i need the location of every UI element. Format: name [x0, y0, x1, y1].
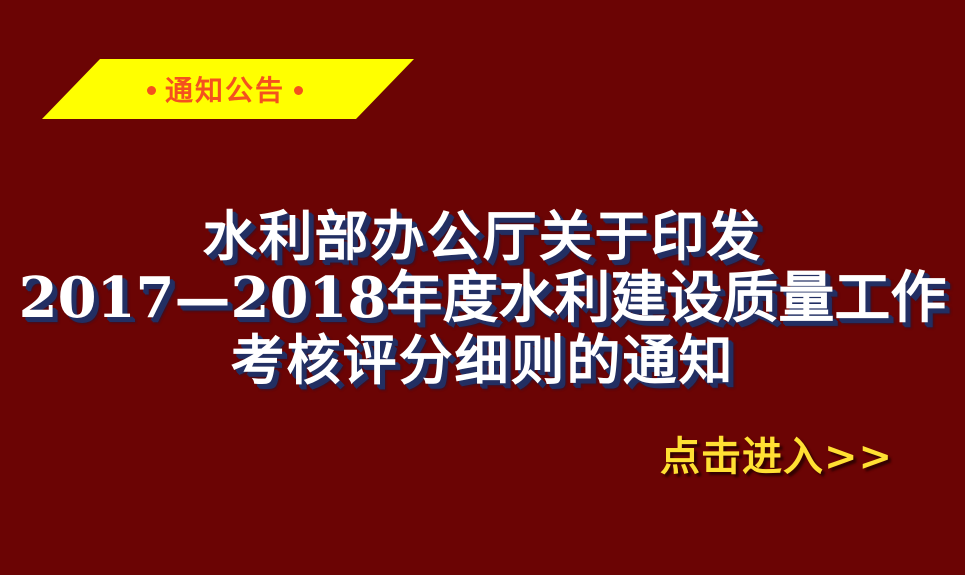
ribbon-label-group: 通知公告 — [42, 59, 414, 119]
notice-promo-card: 通知公告 水利部办公厅关于印发 2017—2018年度水利建设质量工作 考核评分… — [0, 0, 965, 575]
ribbon-right-dot-icon — [294, 86, 303, 95]
notice-title-line-1: 水利部办公厅关于印发 — [0, 205, 965, 267]
ribbon-label-text: 通知公告 — [165, 69, 285, 109]
ribbon-left-dot-icon — [147, 86, 156, 95]
notice-title-line-2: 2017—2018年度水利建设质量工作 — [0, 267, 965, 329]
notice-title: 水利部办公厅关于印发 2017—2018年度水利建设质量工作 考核评分细则的通知 — [0, 205, 965, 391]
notice-category-ribbon: 通知公告 — [42, 59, 414, 119]
click-to-enter-link[interactable]: 点击进入>> — [660, 434, 893, 480]
notice-title-line-3: 考核评分细则的通知 — [0, 329, 965, 391]
